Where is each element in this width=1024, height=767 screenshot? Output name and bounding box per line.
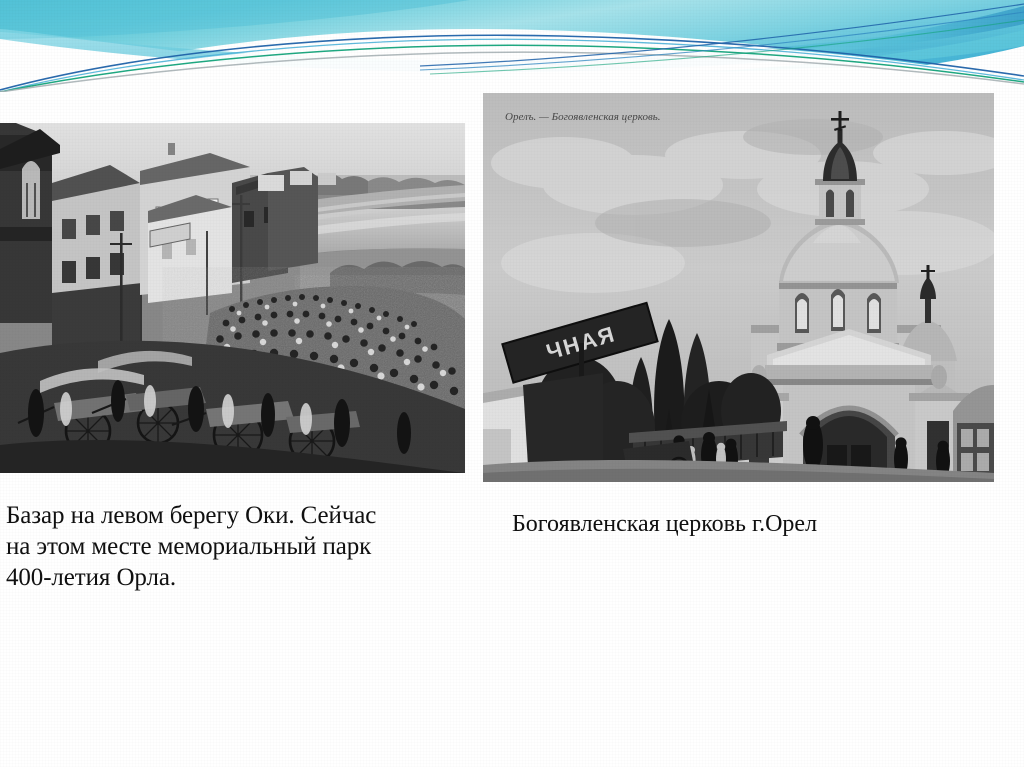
- slide-canvas: Орелъ. — Богоявленская церковь.: [0, 0, 1024, 767]
- photo-bazaar-artwork: [0, 123, 465, 473]
- caption-church: Богоявленская церковь г.Орел: [512, 509, 982, 539]
- photo-church-artwork: Орелъ. — Богоявленская церковь.: [483, 93, 994, 482]
- decorative-wave-banner: [0, 0, 1024, 92]
- photo-epiphany-church-oryol[interactable]: Орелъ. — Богоявленская церковь.: [483, 93, 994, 482]
- caption-bazaar: Базар на левом берегу Оки. Сейчас на это…: [6, 500, 456, 593]
- banner-wave-graphic: [0, 0, 1024, 92]
- photo-bazaar-left-bank-oka[interactable]: [0, 123, 465, 473]
